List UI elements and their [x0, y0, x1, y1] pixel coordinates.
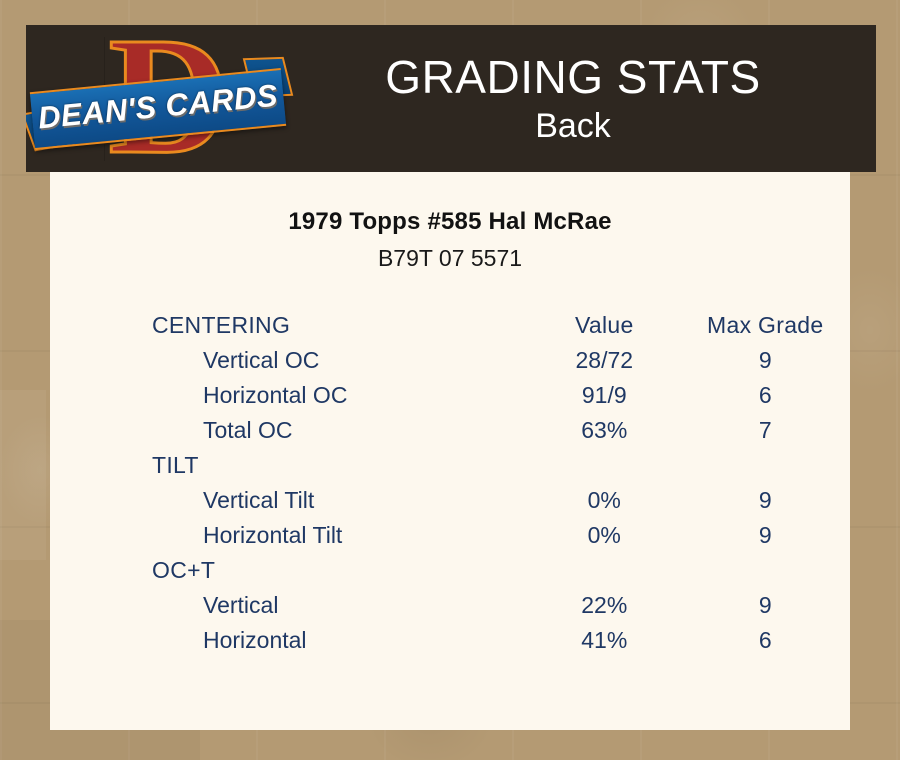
table-row: Vertical OC28/729: [50, 343, 850, 378]
deans-cards-logo[interactable]: D DEAN'S CARDS: [26, 25, 288, 172]
section-title-centering: CENTERING: [50, 308, 528, 343]
table-row: Vertical22%9: [50, 588, 850, 623]
header-bar: D DEAN'S CARDS GRADING STATS Back: [26, 25, 876, 172]
stat-max-grade: 6: [681, 378, 851, 413]
section-title-oc-t: OC+T: [50, 553, 528, 588]
grading-stats-table: CENTERINGValueMax GradeVertical OC28/729…: [50, 308, 850, 658]
table-row: Horizontal Tilt0%9: [50, 518, 850, 553]
table-row: Horizontal41%6: [50, 623, 850, 658]
card-serial-number: B79T 07 5571: [50, 245, 850, 272]
section-header-row: CENTERINGValueMax Grade: [50, 308, 850, 343]
page-subtitle: Back: [288, 104, 858, 148]
table-row: Vertical Tilt0%9: [50, 483, 850, 518]
spacer-cell: [528, 448, 680, 483]
section-title-tilt: TILT: [50, 448, 528, 483]
stat-max-grade: 6: [681, 623, 851, 658]
stat-label: Vertical OC: [50, 343, 528, 378]
stat-value: 0%: [528, 483, 680, 518]
stat-max-grade: 9: [681, 343, 851, 378]
stat-max-grade: 9: [681, 588, 851, 623]
content-panel: 1979 Topps #585 Hal McRae B79T 07 5571 C…: [50, 172, 850, 730]
stat-value: 22%: [528, 588, 680, 623]
stat-value: 63%: [528, 413, 680, 448]
stat-max-grade: 7: [681, 413, 851, 448]
stat-value: 91/9: [528, 378, 680, 413]
table-row: Horizontal OC91/96: [50, 378, 850, 413]
stat-label: Vertical Tilt: [50, 483, 528, 518]
card-title: 1979 Topps #585 Hal McRae: [50, 208, 850, 236]
spacer-cell: [681, 553, 851, 588]
section-header-row: OC+T: [50, 553, 850, 588]
section-header-row: TILT: [50, 448, 850, 483]
spacer-cell: [681, 448, 851, 483]
stat-max-grade: 9: [681, 483, 851, 518]
stat-label: Horizontal Tilt: [50, 518, 528, 553]
column-header-max-grade: Max Grade: [681, 308, 851, 343]
stat-value: 0%: [528, 518, 680, 553]
stat-value: 28/72: [528, 343, 680, 378]
spacer-cell: [528, 553, 680, 588]
stat-max-grade: 9: [681, 518, 851, 553]
stat-label: Horizontal: [50, 623, 528, 658]
stat-label: Vertical: [50, 588, 528, 623]
stat-label: Horizontal OC: [50, 378, 528, 413]
page-title: GRADING STATS: [288, 50, 858, 104]
stat-value: 41%: [528, 623, 680, 658]
table-row: Total OC63%7: [50, 413, 850, 448]
header-title-group: GRADING STATS Back: [288, 50, 876, 148]
column-header-value: Value: [528, 308, 680, 343]
stat-label: Total OC: [50, 413, 528, 448]
